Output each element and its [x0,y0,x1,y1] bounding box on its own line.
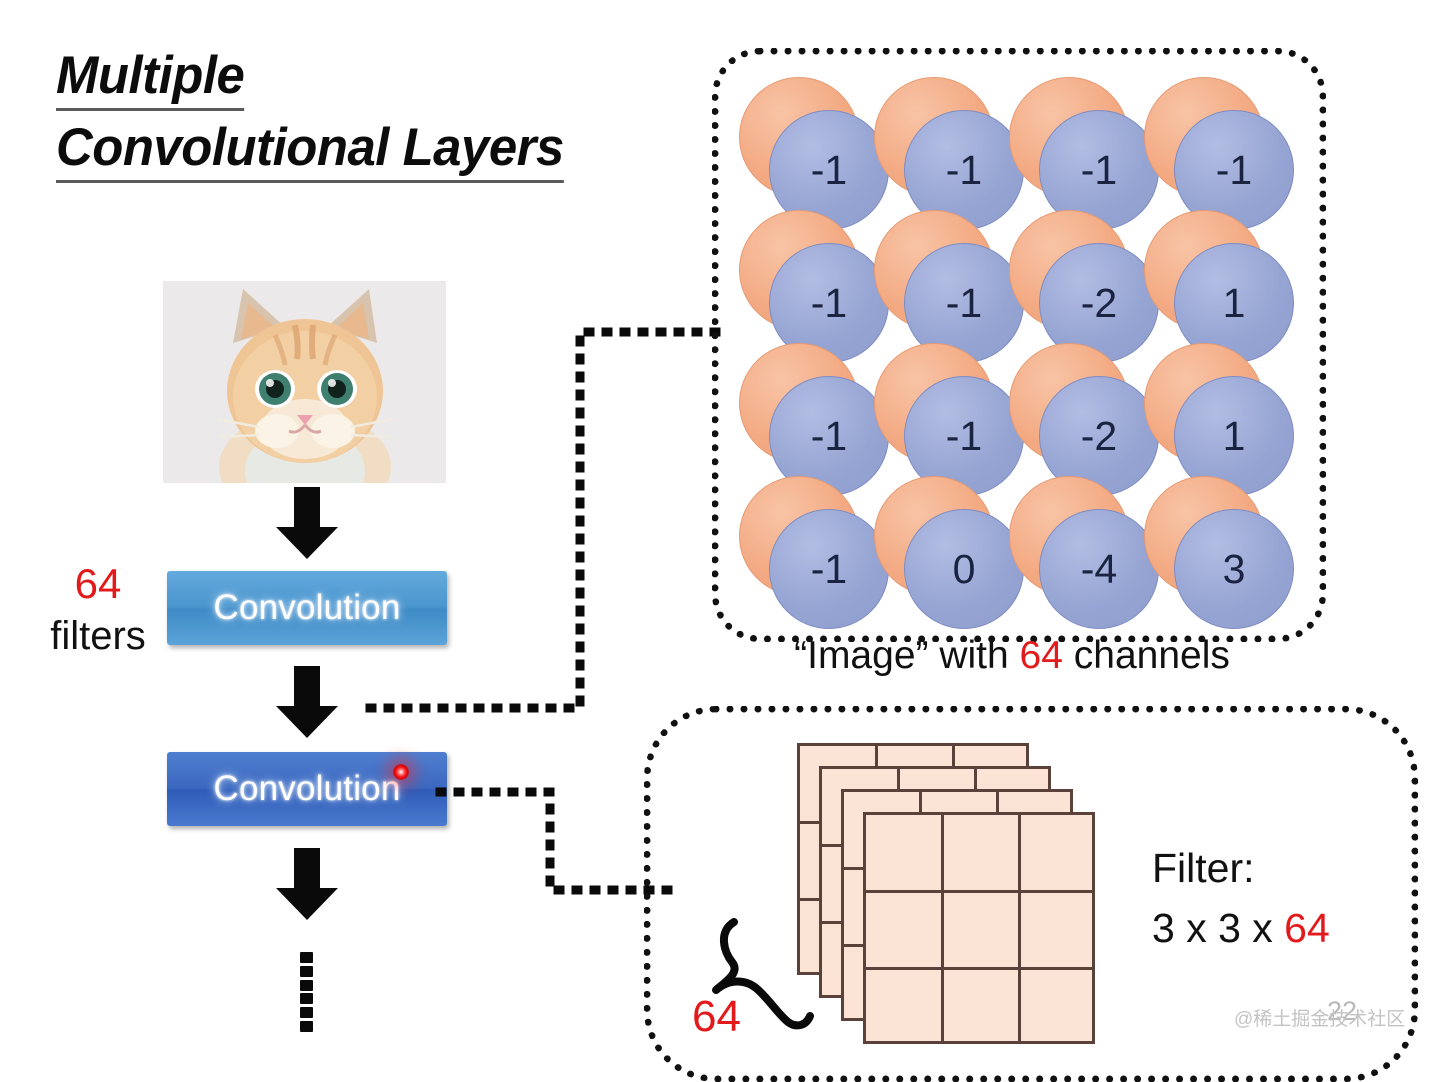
channel-cell: -2 [1009,343,1144,478]
conv-layer-2-box[interactable]: Convolution [167,752,447,826]
caption-channel-count: 64 [1020,634,1063,677]
channel-value: 1 [1223,416,1246,457]
channel-circle-front: 3 [1174,509,1294,629]
page-title: Multiple Convolutional Layers [56,46,676,190]
channel-cell: -4 [1009,476,1144,611]
filter-depth-label: 64 [692,995,741,1039]
channel-value: -1 [811,416,847,457]
channel-circle-front: -1 [769,509,889,629]
filter-stack-diagram [797,743,1147,1043]
image-channels-panel: -1 -1 -1 -1 -1 [712,48,1326,642]
input-image-photo [163,281,446,483]
channel-circle-front: 0 [904,509,1024,629]
channel-value: -2 [1081,416,1117,457]
filter-spec-dims: 3 x 3 x 64 [1152,898,1330,958]
channel-value: -1 [1216,150,1252,191]
filter-dims-depth: 64 [1284,905,1330,951]
channel-value: -1 [946,416,982,457]
down-arrow-2 [274,666,340,740]
channel-cell: -1 [1144,77,1279,212]
down-arrow-1 [274,487,340,561]
channel-cell: -2 [1009,210,1144,345]
channel-cell: 1 [1144,343,1279,478]
channel-cell: -1 [739,343,874,478]
channel-cell: 0 [874,476,1009,611]
channel-value: 0 [953,549,976,590]
channel-cell: -1 [874,210,1009,345]
title-line-2: Convolutional Layers [56,118,564,183]
image-panel-caption: “Image” with 64 channels [712,634,1312,678]
channel-value: 3 [1223,549,1246,590]
pipeline-continues-ellipsis-icon [300,952,314,1032]
conv-layer-2-label: Convolution [213,769,400,809]
filters-count-word: filters [28,610,168,662]
channel-cell: -1 [739,77,874,212]
channel-cell: -1 [739,210,874,345]
watermark: @稀土掘金技术社区 [1234,1004,1405,1031]
filter-dims-prefix: 3 x 3 x [1152,905,1284,951]
channel-cell: -1 [874,77,1009,212]
filter-plane [863,812,1095,1044]
channel-value: -1 [811,283,847,324]
title-line-1: Multiple [56,46,244,111]
filter-spec-title: Filter: [1152,838,1330,898]
connector-conv2-to-filter-panel [430,760,680,920]
channel-value: -4 [1081,549,1117,590]
channel-value: -1 [811,150,847,191]
channel-value: -1 [946,283,982,324]
channel-cell: 1 [1144,210,1279,345]
channel-value: -1 [1081,150,1117,191]
channel-circle-front: -4 [1039,509,1159,629]
channel-value: -1 [811,549,847,590]
down-arrow-3 [274,848,340,922]
channel-cell: -1 [739,476,874,611]
filter-spec-text: Filter: 3 x 3 x 64 [1152,838,1330,958]
caption-prefix: “Image” with [794,634,1019,677]
channel-cell: 3 [1144,476,1279,611]
conv-layer-1-label: Convolution [213,588,400,628]
channel-value: -2 [1081,283,1117,324]
laser-pointer-dot-icon [393,764,409,780]
channel-value: 1 [1223,283,1246,324]
conv-layer-1-box[interactable]: Convolution [167,571,447,645]
channel-circle-grid: -1 -1 -1 -1 -1 [739,77,1299,617]
filters-count-number: 64 [28,558,168,610]
channel-value: -1 [946,150,982,191]
filters-count-label: 64 filters [28,558,168,662]
caption-suffix: channels [1063,634,1230,677]
channel-cell: -1 [874,343,1009,478]
channel-cell: -1 [1009,77,1144,212]
